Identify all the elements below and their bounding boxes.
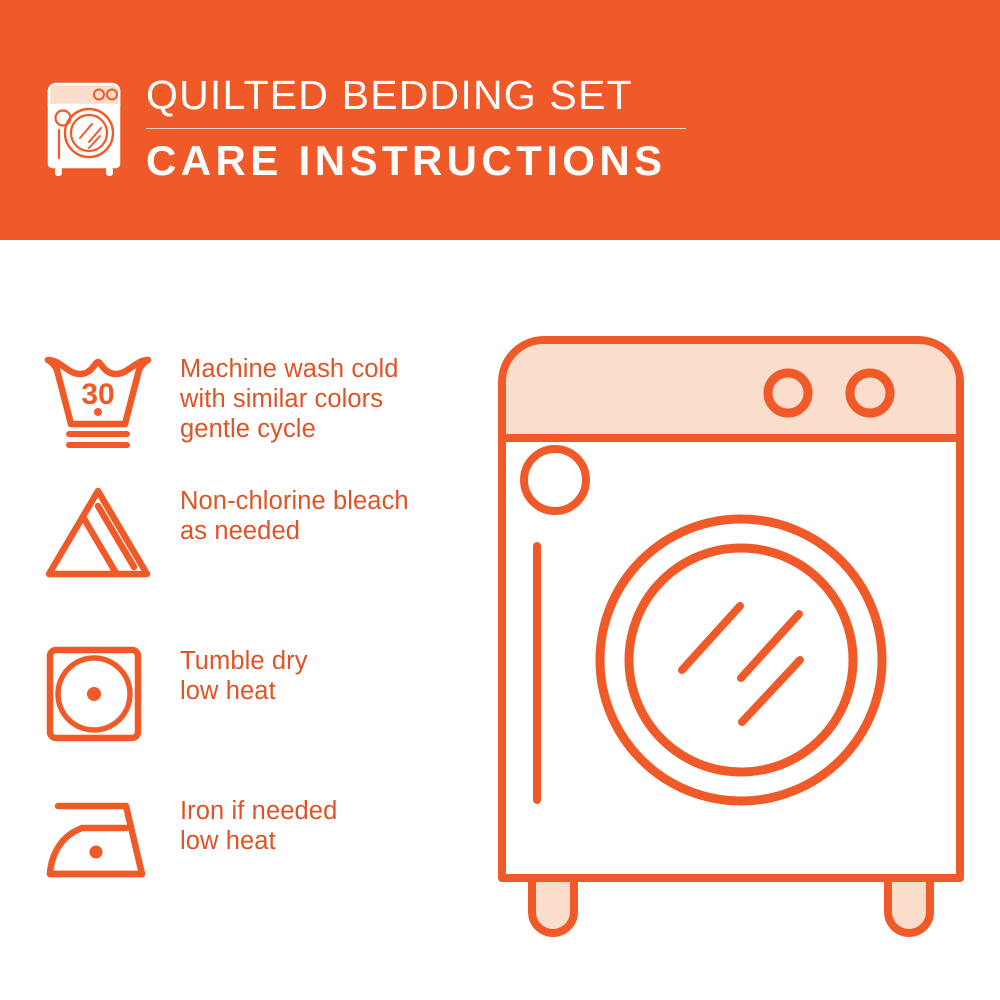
- care-text-line: Machine wash cold: [180, 354, 399, 384]
- bleach-triangle-icon: [40, 484, 180, 582]
- iron-low-heat-icon: [40, 794, 180, 886]
- title-divider: [146, 128, 686, 129]
- wash-tub-30-icon: 30: [40, 352, 180, 456]
- care-text-line: Iron if needed: [180, 796, 337, 826]
- care-text-line: gentle cycle: [180, 414, 399, 444]
- care-text-line: as needed: [180, 516, 409, 546]
- washing-machine-illustration: [492, 330, 972, 940]
- care-text-line: Tumble dry: [180, 646, 308, 676]
- care-row-bleach: Non-chlorine bleach as needed: [40, 484, 510, 582]
- care-text-tumble-dry: Tumble dry low heat: [180, 644, 308, 706]
- care-text-line: with similar colors: [180, 384, 399, 414]
- care-instructions-infographic: QUILTED BEDDING SET CARE INSTRUCTIONS 30…: [0, 0, 1000, 1000]
- care-text-wash: Machine wash cold with similar colors ge…: [180, 352, 399, 444]
- care-text-line: low heat: [180, 676, 308, 706]
- header-band: QUILTED BEDDING SET CARE INSTRUCTIONS: [0, 0, 1000, 240]
- wash-temperature-label: 30: [81, 378, 114, 411]
- page-subtitle: CARE INSTRUCTIONS: [146, 137, 706, 185]
- washing-machine-icon: [44, 72, 128, 178]
- care-row-wash: 30 Machine wash cold with similar colors…: [40, 352, 510, 456]
- care-row-tumble-dry: Tumble dry low heat: [40, 644, 510, 744]
- care-row-iron: Iron if needed low heat: [40, 794, 510, 886]
- care-text-bleach: Non-chlorine bleach as needed: [180, 484, 409, 546]
- care-text-line: low heat: [180, 826, 337, 856]
- header-title-block: QUILTED BEDDING SET CARE INSTRUCTIONS: [146, 72, 706, 185]
- page-title: QUILTED BEDDING SET: [146, 72, 706, 119]
- care-text-iron: Iron if needed low heat: [180, 794, 337, 856]
- tumble-dry-low-icon: [40, 644, 180, 744]
- care-text-line: Non-chlorine bleach: [180, 486, 409, 516]
